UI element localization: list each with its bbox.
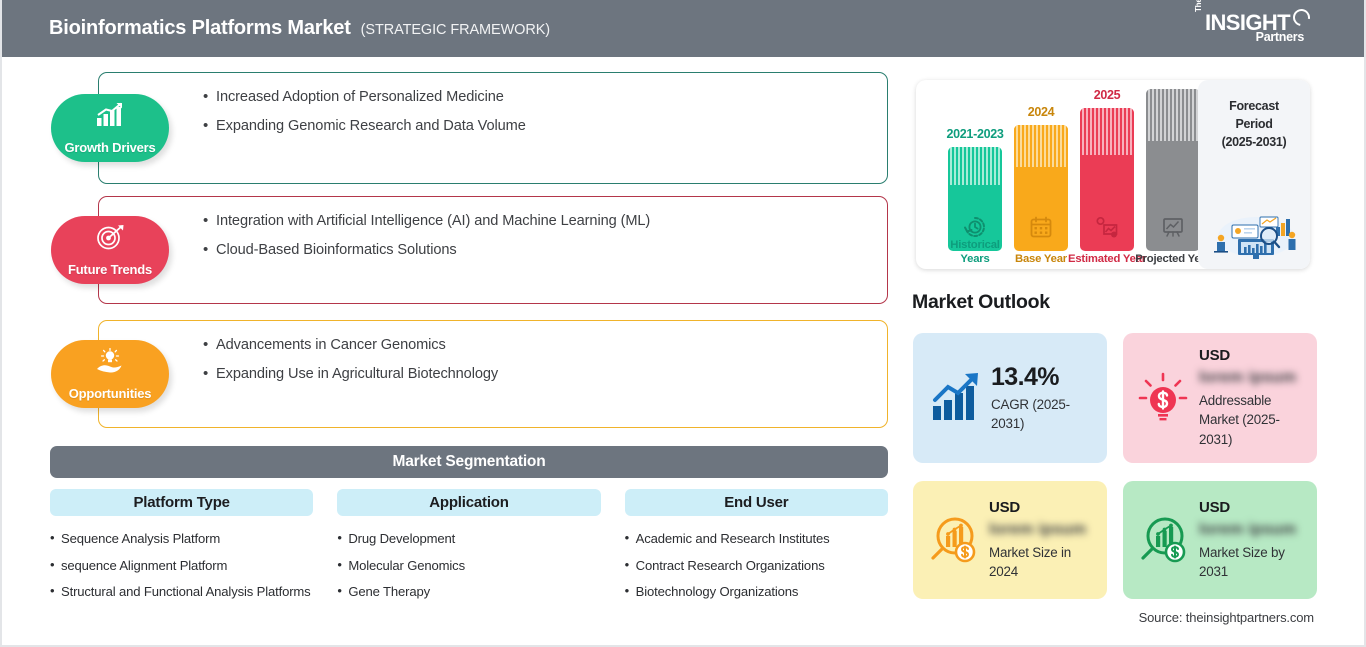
opportunities-list: Advancements in Cancer Genomics Expandin… (99, 321, 887, 382)
redacted-value: lorem ipsum (989, 521, 1099, 539)
forecast-line-2: Period (1198, 116, 1310, 134)
logo-partners-text: Partners (1256, 30, 1304, 44)
column-title: Application (337, 489, 600, 516)
source-attribution: Source: theinsightpartners.com (1139, 610, 1314, 625)
forecast-period-panel: Forecast Period (2025-2031) (1198, 80, 1310, 269)
list-item: Contract Research Organizations (625, 556, 888, 576)
column-title: End User (625, 489, 888, 516)
list-item: Increased Adoption of Personalized Medic… (203, 89, 887, 105)
timeline-bar-historical: 2021-2023 Historical Years (948, 147, 1002, 251)
list-item: Drug Development (337, 529, 600, 549)
badge-growth-drivers[interactable]: Growth Drivers (51, 94, 169, 162)
redacted-value: lorem ipsum (1199, 369, 1309, 387)
logo-swoosh-icon (1290, 6, 1314, 30)
future-trends-list: Integration with Artificial Intelligence… (99, 197, 887, 258)
timeline-bar-projected: 2031 Projected Year (1146, 89, 1200, 251)
forecast-chart-icon (1094, 215, 1120, 239)
forecast-line-3: (2025-2031) (1198, 134, 1310, 152)
timeline-bars: 2021-2023 Historical Years 2024 (916, 80, 1198, 269)
list-item: Sequence Analysis Platform (50, 529, 313, 549)
list-item: sequence Alignment Platform (50, 556, 313, 576)
list-item: Expanding Use in Agricultural Biotechnol… (203, 366, 887, 382)
badge-label: Future Trends (68, 262, 152, 277)
timeline-bar-estimated: 2025 Estimated Year (1080, 108, 1134, 251)
badge-opportunities[interactable]: Opportunities (51, 340, 169, 408)
market-segmentation-title: Market Segmentation (393, 453, 546, 471)
magnifier-chart-dollar-icon (1137, 514, 1189, 566)
outlook-card-body: USD lorem ipsum Market Size by 2031 (1199, 499, 1317, 582)
bar-year-label: 2024 (1028, 105, 1055, 119)
badge-label: Opportunities (69, 386, 152, 401)
list-item: Academic and Research Institutes (625, 529, 888, 549)
bar-chart-arrow-icon (931, 372, 983, 424)
outlook-card-body: USD lorem ipsum Market Size in 2024 (989, 499, 1107, 582)
bar-shape (1014, 125, 1068, 251)
bar-shape (948, 147, 1002, 251)
column-items: Academic and Research Institutes Contrac… (625, 529, 888, 602)
outlook-card-market-size-2024: USD lorem ipsum Market Size in 2024 (913, 481, 1107, 599)
page-title: Bioinformatics Platforms Market (49, 17, 351, 40)
segmentation-column-platform-type: Platform Type Sequence Analysis Platform… (50, 489, 313, 609)
market-size-2024-label: Market Size in 2024 (989, 543, 1099, 582)
addressable-market-label: Addressable Market (2025-2031) (1199, 391, 1309, 449)
projection-screen-icon (1160, 215, 1186, 239)
bar-year-label: 2031 (1160, 80, 1187, 83)
bar-year-label: 2025 (1094, 88, 1121, 102)
column-title: Platform Type (50, 489, 313, 516)
magnifier-chart-dollar-icon (927, 514, 979, 566)
outlook-card-market-size-2031: USD lorem ipsum Market Size by 2031 (1123, 481, 1317, 599)
forecast-line-1: Forecast (1198, 98, 1310, 116)
list-item: Cloud-Based Bioinformatics Solutions (203, 242, 887, 258)
market-segmentation-header: Market Segmentation (50, 446, 888, 478)
bar-shape (1146, 89, 1200, 251)
lightbulb-dollar-icon (1137, 372, 1189, 424)
bar-chart-growth-icon (95, 102, 125, 128)
outlook-card-addressable-market: USD lorem ipsum Addressable Market (2025… (1123, 333, 1317, 463)
bar-year-label: 2021-2023 (946, 127, 1003, 141)
segmentation-columns: Platform Type Sequence Analysis Platform… (50, 489, 888, 609)
list-item: Biotechnology Organizations (625, 582, 888, 602)
list-item: Molecular Genomics (337, 556, 600, 576)
future-trends-card: Integration with Artificial Intelligence… (98, 196, 888, 304)
segmentation-column-application: Application Drug Development Molecular G… (337, 489, 600, 609)
cagr-label: CAGR (2025-2031) (991, 395, 1099, 434)
currency-label: USD (1199, 499, 1309, 516)
currency-label: USD (1199, 347, 1309, 364)
infographic-canvas: Bioinformatics Platforms Market (STRATEG… (0, 0, 1366, 647)
redacted-value: lorem ipsum (1199, 521, 1309, 539)
badge-future-trends[interactable]: Future Trends (51, 216, 169, 284)
growth-drivers-card: Increased Adoption of Personalized Medic… (98, 72, 888, 184)
opportunities-card: Advancements in Cancer Genomics Expandin… (98, 320, 888, 428)
cagr-value: 13.4% (991, 363, 1099, 392)
outlook-card-body: USD lorem ipsum Addressable Market (2025… (1199, 347, 1317, 449)
timeline-bar-base: 2024 Base Year (1014, 125, 1068, 251)
insight-partners-logo: The INSIGHT Partners (1194, 10, 1310, 48)
currency-label: USD (989, 499, 1099, 516)
bar-shape (1080, 108, 1134, 251)
column-items: Sequence Analysis Platform sequence Alig… (50, 529, 313, 602)
history-clock-icon (962, 215, 988, 239)
logo-the-text: The (1194, 0, 1203, 12)
hand-lightbulb-icon (95, 348, 125, 374)
outlook-card-cagr: 13.4% CAGR (2025-2031) (913, 333, 1107, 463)
column-items: Drug Development Molecular Genomics Gene… (337, 529, 600, 602)
list-item: Integration with Artificial Intelligence… (203, 213, 887, 229)
list-item: Structural and Functional Analysis Platf… (50, 582, 313, 602)
growth-drivers-list: Increased Adoption of Personalized Medic… (99, 73, 887, 134)
list-item: Gene Therapy (337, 582, 600, 602)
segmentation-column-end-user: End User Academic and Research Institute… (625, 489, 888, 609)
market-size-2031-label: Market Size by 2031 (1199, 543, 1309, 582)
page-subtitle: (STRATEGIC FRAMEWORK) (361, 22, 550, 38)
target-dart-icon (95, 224, 125, 250)
list-item: Advancements in Cancer Genomics (203, 337, 887, 353)
market-timeline-chart: 2021-2023 Historical Years 2024 (916, 80, 1310, 269)
forecast-period-title: Forecast Period (2025-2031) (1198, 80, 1310, 151)
market-outlook-title: Market Outlook (912, 291, 1050, 314)
analytics-team-illustration (1204, 203, 1304, 261)
list-item: Expanding Genomic Research and Data Volu… (203, 118, 887, 134)
outlook-card-body: 13.4% CAGR (2025-2031) (991, 363, 1107, 434)
header-bar: Bioinformatics Platforms Market (STRATEG… (2, 0, 1364, 57)
badge-label: Growth Drivers (64, 140, 155, 155)
calendar-icon (1028, 215, 1054, 239)
